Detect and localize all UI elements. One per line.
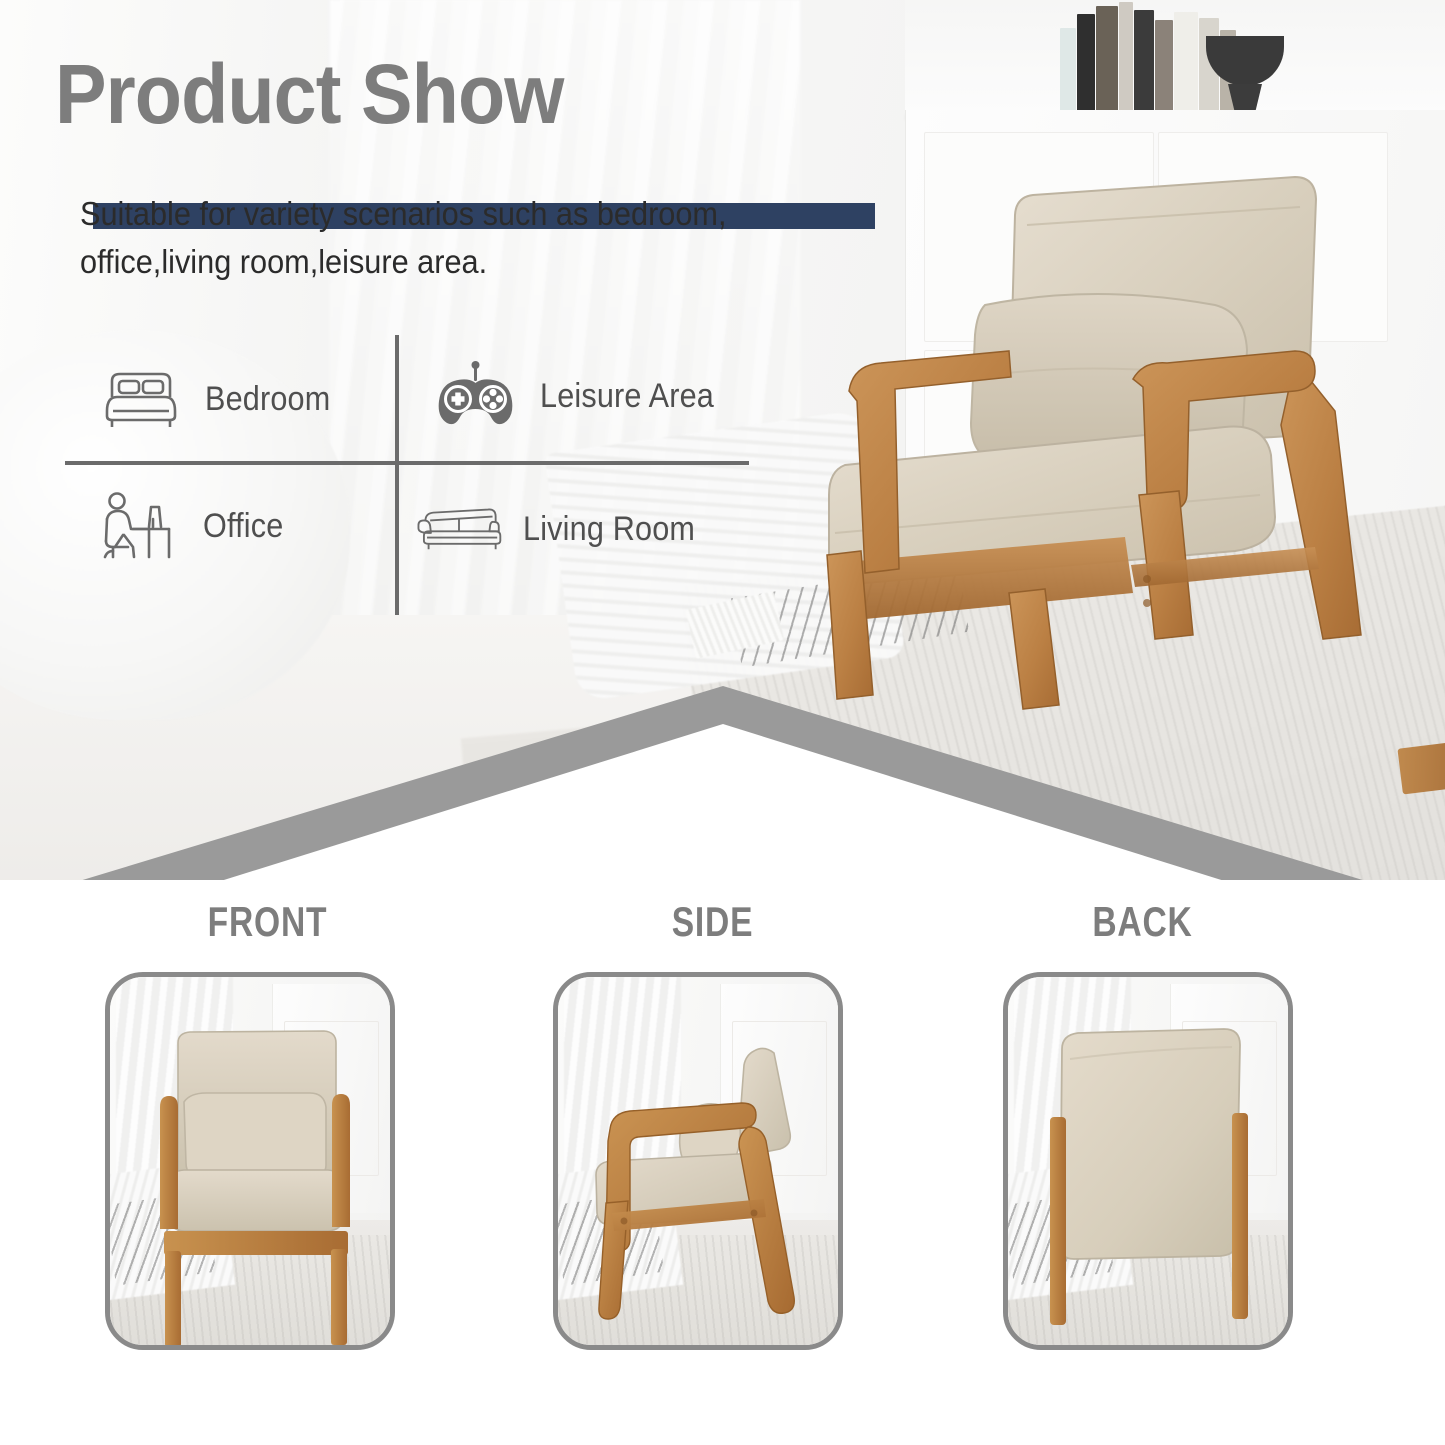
scenario-item-bedroom[interactable]: Bedroom (95, 360, 344, 438)
scenario-item-office[interactable]: Office (93, 487, 292, 565)
grid-divider-horizontal (65, 461, 749, 465)
book-1 (1060, 28, 1076, 112)
view-label-front: FRONT (158, 898, 378, 946)
views-section: FRONT SIDE BACK (0, 880, 1445, 1445)
grid-divider-vertical (395, 335, 399, 615)
scenario-label-bedroom: Bedroom (205, 380, 330, 419)
hero-product-image (795, 165, 1395, 725)
bookshelf (905, 0, 1445, 118)
scenario-label-office: Office (203, 507, 283, 546)
scenario-label-living-room: Living Room (523, 510, 695, 549)
book-7 (1174, 12, 1198, 112)
product-show-infographic: Product Show Suitable for variety scenar… (0, 0, 1445, 1445)
scenario-item-leisure-area[interactable]: Leisure Area (430, 357, 733, 435)
page-title: Product Show (55, 55, 791, 135)
sofa-icon (413, 490, 505, 568)
book-3 (1096, 6, 1118, 112)
view-scene-front (110, 977, 390, 1345)
header-block: Product Show (55, 55, 855, 135)
book-4 (1119, 2, 1133, 112)
scenario-item-living-room[interactable]: Living Room (413, 490, 714, 568)
scenario-label-leisure-area: Leisure Area (540, 377, 714, 416)
view-scene-side (558, 977, 838, 1345)
book-6 (1155, 20, 1173, 112)
book-2 (1077, 14, 1095, 112)
view-label-side: SIDE (603, 898, 823, 946)
view-card-front[interactable] (105, 972, 395, 1350)
book-5 (1134, 10, 1154, 112)
scenario-grid: Bedroom (65, 332, 755, 617)
desk-person-icon (93, 487, 185, 565)
gamepad-icon (430, 357, 522, 435)
page-subtitle: Suitable for variety scenarios such as b… (80, 190, 815, 286)
view-card-side[interactable] (553, 972, 843, 1350)
view-card-back[interactable] (1003, 972, 1293, 1350)
view-label-back: BACK (1033, 898, 1253, 946)
bed-icon (95, 360, 187, 438)
view-scene-back (1008, 977, 1288, 1345)
